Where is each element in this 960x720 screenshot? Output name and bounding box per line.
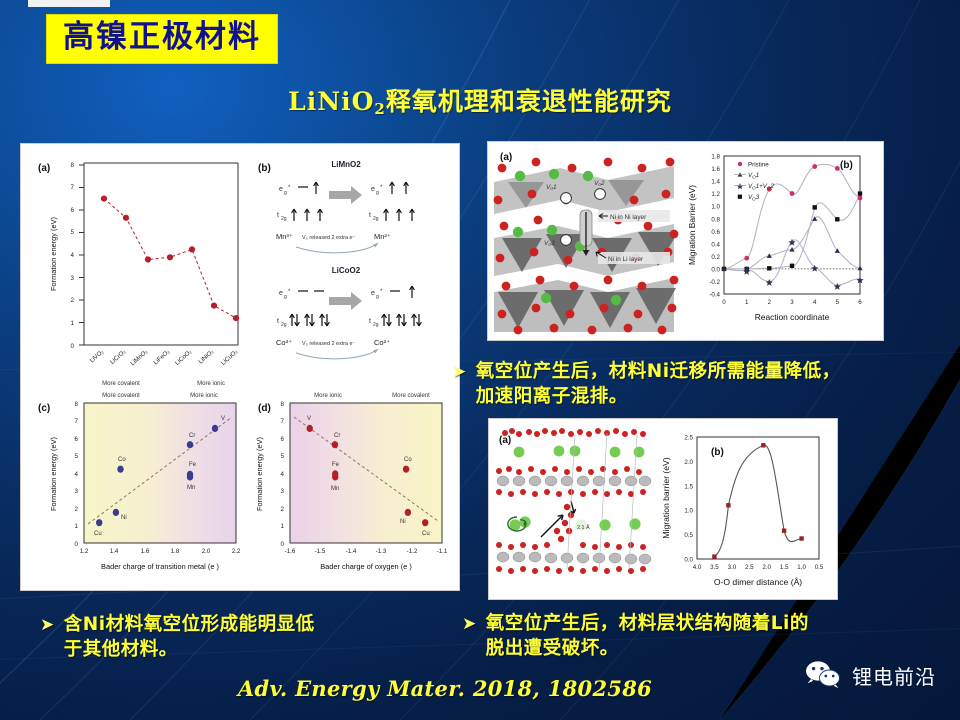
svg-text:-0.2: -0.2	[709, 279, 720, 286]
svg-text:2g: 2g	[281, 322, 287, 328]
svg-text:3: 3	[75, 488, 79, 495]
svg-text:6: 6	[858, 299, 862, 306]
panel-c-pt-Ni: Ni	[121, 515, 127, 521]
subtitle-formula-post: 释氧机理和衰退性能研究	[386, 87, 672, 116]
panel-d-pt-Cr: Cr	[334, 433, 340, 439]
svg-text:g: g	[376, 190, 379, 196]
top-accent-bar	[28, 0, 110, 7]
svg-text:t: t	[277, 212, 279, 219]
panel-b-ion-after-1: Mn²⁺	[374, 232, 391, 241]
svg-text:8: 8	[281, 401, 285, 408]
svg-text:2.2: 2.2	[232, 548, 241, 555]
panel-a-annot-ionic: More ionic	[197, 381, 225, 387]
figure-top-right: V₀1 V₀2 V₀3 Ni in Ni layer Ni in Li laye…	[487, 141, 884, 341]
svg-text:0.5: 0.5	[815, 564, 824, 571]
svg-text:e: e	[371, 290, 375, 297]
panel-d-pt-Cu: Cu	[422, 531, 430, 537]
svg-text:-1.5: -1.5	[315, 548, 326, 555]
svg-text:0.5: 0.5	[684, 532, 693, 539]
oo-dimer-chart: (b) 2.5 2.0 1.5 1.0 0.5 0.0	[653, 422, 835, 596]
oo-ylabel: Migration barrier (eV)	[661, 457, 671, 538]
panel-d-pt-Fe: Fe	[332, 462, 340, 468]
panel-d-plot: V Cr Fe Mn Co Ni Cu 0 1 2 3 4 5 6 7 8	[281, 401, 448, 555]
svg-text:t: t	[369, 318, 371, 325]
svg-text:0: 0	[71, 343, 75, 350]
svg-text:0.6: 0.6	[711, 229, 720, 236]
panel-d-label: (d)	[258, 403, 271, 414]
svg-text:-1.2: -1.2	[407, 548, 418, 555]
svg-text:6: 6	[75, 436, 79, 443]
svg-text:e: e	[371, 186, 375, 193]
panel-b-caption-2: V₀ released 2 extra e⁻	[302, 341, 355, 347]
svg-text:1.6: 1.6	[141, 548, 150, 555]
svg-text:2.0: 2.0	[202, 548, 211, 555]
panel-c-plot: V Cr Fe Mn Co Ni Cu 0 1 2 3 4 5 6 7 8	[75, 401, 241, 555]
svg-text:8: 8	[71, 162, 75, 169]
panel-b-ion-before-1: Mn³⁺	[276, 232, 293, 241]
panel-b-compound-2: LiCoO2	[332, 266, 361, 275]
panel-c-pt-Fe: Fe	[189, 462, 197, 468]
bullet-arrow-icon: ➤	[40, 615, 55, 635]
panel-a-annot-covalent: More covalent	[102, 381, 140, 387]
svg-text:1.0: 1.0	[684, 508, 693, 515]
bullet-1-line-2: 加速阳离子混排。	[476, 386, 628, 407]
svg-text:-1.6: -1.6	[285, 548, 296, 555]
slide-subtitle: LiNiO2释氧机理和衰退性能研究	[0, 82, 960, 118]
svg-text:g: g	[284, 190, 287, 196]
panel-a-ylabel: Formation energy (eV)	[49, 217, 58, 291]
panel-c-pt-Cu: Cu	[94, 531, 102, 537]
panel-d-pt-Mn: Mn	[331, 486, 339, 492]
svg-text:0.8: 0.8	[711, 216, 720, 223]
svg-text:1.8: 1.8	[711, 154, 720, 161]
label-ni-in-ni-layer: Ni in Ni layer	[610, 214, 647, 221]
svg-text:5: 5	[281, 453, 285, 460]
wechat-icon	[803, 660, 843, 690]
svg-text:2.5: 2.5	[684, 435, 693, 442]
label-vo3: V₀3	[544, 240, 555, 247]
panel-b-ion-after-2: Co²⁺	[374, 338, 390, 347]
citation-text: Adv. Energy Mater. 2018, 1802586	[238, 676, 652, 701]
bullet-arrow-icon: ➤	[462, 614, 477, 634]
svg-text:g: g	[284, 294, 287, 300]
panel-d-annot-covalent: More covalent	[392, 393, 430, 399]
svg-text:1: 1	[745, 299, 749, 306]
panel-d-xlabel: Bader charge of oxygen (e )	[320, 562, 412, 571]
legend-pristine: Pristine	[748, 162, 769, 169]
panel-c-annot-covalent: More covalent	[102, 393, 140, 399]
svg-text:1.2: 1.2	[80, 548, 89, 555]
svg-text:0.2: 0.2	[711, 254, 720, 261]
vacancy-vo2	[595, 189, 606, 200]
panel-d-annot-ionic: More ionic	[314, 393, 342, 399]
svg-text:t: t	[369, 212, 371, 219]
oo-xlabel: O-O dimer distance (Å)	[714, 577, 802, 587]
figure-top-right-svg: V₀1 V₀2 V₀3 Ni in Ni layer Ni in Li laye…	[488, 142, 883, 340]
svg-text:4: 4	[281, 471, 285, 478]
migration-ylabel: Migration Barrier (eV)	[687, 185, 697, 265]
bullet-2-line-2: 于其他材料。	[64, 639, 178, 660]
svg-text:-1.4: -1.4	[346, 548, 357, 555]
svg-text:2: 2	[281, 506, 285, 513]
svg-text:1.0: 1.0	[711, 204, 720, 211]
panel-c-pt-Mn: Mn	[187, 485, 195, 491]
svg-text:VO1+VO2: VO1+VO2	[748, 183, 775, 190]
svg-text:7: 7	[71, 184, 75, 191]
svg-text:2g: 2g	[281, 216, 287, 222]
svg-text:-0.4: -0.4	[709, 292, 720, 299]
bullet-point-2: ➤含Ni材料氧空位形成能明显低于其他材料。	[40, 613, 440, 662]
panel-c-pt-Cr: Cr	[189, 433, 195, 439]
migration-barrier-chart: Pristine VO1 VO1+VO2 VO3 (b) 1.8 1.6 1.4	[684, 145, 880, 337]
bullet-point-3: ➤氧空位产生后，材料层状结构随着Li的脱出遭受破坏。	[462, 612, 932, 661]
panel-d-pt-Co: Co	[404, 457, 412, 463]
svg-text:0.0: 0.0	[711, 267, 720, 274]
svg-text:0: 0	[281, 541, 285, 548]
svg-text:2g: 2g	[373, 216, 379, 222]
svg-text:2: 2	[768, 299, 772, 306]
figure-bottom-right: (a)	[488, 418, 838, 600]
svg-text:5: 5	[836, 299, 840, 306]
svg-text:1.4: 1.4	[711, 179, 720, 186]
svg-text:-1.1: -1.1	[437, 548, 448, 555]
panel-c-ylabel: Formation energy (eV)	[49, 437, 58, 511]
panel-c-label: (c)	[38, 403, 50, 414]
svg-text:5: 5	[75, 453, 79, 460]
svg-text:7: 7	[75, 418, 79, 425]
svg-text:7: 7	[281, 418, 285, 425]
svg-text:1.5: 1.5	[684, 483, 693, 490]
svg-text:8: 8	[75, 401, 79, 408]
svg-text:6: 6	[71, 207, 75, 214]
svg-text:e: e	[279, 290, 283, 297]
bullet-3-line-2: 脱出遭受破坏。	[486, 638, 619, 659]
svg-text:5: 5	[71, 229, 75, 236]
svg-text:1: 1	[75, 523, 79, 530]
svg-text:2: 2	[75, 506, 79, 513]
svg-text:1.2: 1.2	[711, 191, 720, 198]
subtitle-formula-pre: LiNiO	[288, 87, 374, 116]
footer-brand: 锂电前沿	[803, 660, 936, 690]
svg-text:1.8: 1.8	[171, 548, 180, 555]
bullet-point-1: ➤氧空位产生后，材料Ni迁移所需能量降低，加速阳离子混排。	[452, 360, 952, 409]
panel-c-pt-V: V	[221, 416, 225, 422]
slide-root: 高镍正极材料 LiNiO2释氧机理和衰退性能研究 (a) 0 1 2 3 4	[0, 0, 960, 720]
footer-brand-label: 锂电前沿	[852, 661, 936, 690]
svg-text:0.0: 0.0	[684, 557, 693, 564]
svg-text:3.0: 3.0	[728, 564, 737, 571]
bullet-1-line-1: 氧空位产生后，材料Ni迁移所需能量降低，	[476, 361, 841, 382]
svg-text:t: t	[277, 318, 279, 325]
svg-text:6: 6	[281, 436, 285, 443]
label-ni-in-li-layer: Ni in Li layer	[608, 256, 644, 263]
svg-text:2.0: 2.0	[762, 564, 771, 571]
svg-text:1.0: 1.0	[797, 564, 806, 571]
bullet-3-line-1: 氧空位产生后，材料层状结构随着Li的	[486, 613, 809, 634]
panel-b-ion-before-2: Co³⁺	[276, 338, 292, 347]
bullet-2-line-1: 含Ni材料氧空位形成能明显低	[64, 614, 315, 635]
svg-text:3: 3	[790, 299, 794, 306]
svg-text:2.0: 2.0	[684, 459, 693, 466]
panel-c-pt-Co: Co	[118, 457, 126, 463]
label-vo1: V₀1	[546, 184, 557, 191]
structure-bottom-right: (a)	[492, 422, 651, 596]
migration-xlabel: Reaction coordinate	[755, 312, 830, 322]
panel-d-ylabel: Formation energy (eV)	[255, 437, 264, 511]
label-vo2: V₀2	[594, 180, 605, 187]
structure-top-right: V₀1 V₀2 V₀3 Ni in Ni layer Ni in Li laye…	[492, 145, 678, 337]
panel-b-label: (b)	[258, 163, 271, 174]
svg-text:g: g	[376, 294, 379, 300]
svg-text:1: 1	[281, 523, 285, 530]
structure-tr-panel-label: (a)	[500, 152, 512, 163]
svg-text:3: 3	[281, 488, 285, 495]
migration-panel-label: (b)	[840, 160, 853, 171]
svg-text:4: 4	[75, 471, 79, 478]
svg-text:0: 0	[75, 541, 79, 548]
svg-text:0: 0	[722, 299, 726, 306]
panel-d-pt-Ni: Ni	[400, 519, 406, 525]
svg-text:2g: 2g	[373, 322, 379, 328]
svg-text:1: 1	[71, 320, 75, 327]
svg-text:2.1 Å: 2.1 Å	[577, 524, 590, 531]
panel-c-xlabel: Bader charge of transition metal (e )	[101, 562, 219, 571]
svg-text:0.4: 0.4	[711, 241, 720, 248]
svg-text:1.5: 1.5	[780, 564, 789, 571]
subtitle-text: LiNiO2释氧机理和衰退性能研究	[288, 87, 672, 116]
figure-left-svg: (a) 0 1 2 3 4 5 6 7 8	[26, 149, 456, 587]
slide-title-box: 高镍正极材料	[46, 14, 278, 64]
svg-text:e: e	[279, 186, 283, 193]
svg-text:2.5: 2.5	[745, 564, 754, 571]
figure-left-panel: (a) 0 1 2 3 4 5 6 7 8	[20, 143, 460, 591]
panel-a-label: (a)	[38, 163, 50, 174]
svg-text:1.6: 1.6	[711, 166, 720, 173]
svg-text:4: 4	[813, 299, 817, 306]
vacancy-vo3	[561, 235, 572, 246]
svg-text:1.4: 1.4	[110, 548, 119, 555]
structure-br-panel-label: (a)	[499, 435, 511, 446]
oo-panel-label: (b)	[711, 447, 724, 458]
panel-c-annot-ionic: More ionic	[190, 393, 218, 399]
panel-d-pt-V: V	[307, 416, 311, 422]
page-title: 高镍正极材料	[63, 19, 261, 55]
svg-text:4.0: 4.0	[693, 564, 702, 571]
subtitle-formula-sub: 2	[374, 100, 385, 118]
figure-bottom-right-svg: (a)	[489, 419, 837, 599]
svg-text:-1.3: -1.3	[376, 548, 387, 555]
svg-text:3.5: 3.5	[710, 564, 719, 571]
bullet-arrow-icon: ➤	[452, 362, 467, 382]
panel-b-caption-1: V₀ released 2 extra e⁻	[302, 235, 355, 241]
vacancy-vo1	[561, 193, 572, 204]
svg-text:4: 4	[71, 252, 75, 259]
svg-text:2: 2	[71, 297, 75, 304]
panel-b-compound-1: LiMnO2	[331, 160, 361, 169]
svg-text:3: 3	[71, 275, 75, 282]
